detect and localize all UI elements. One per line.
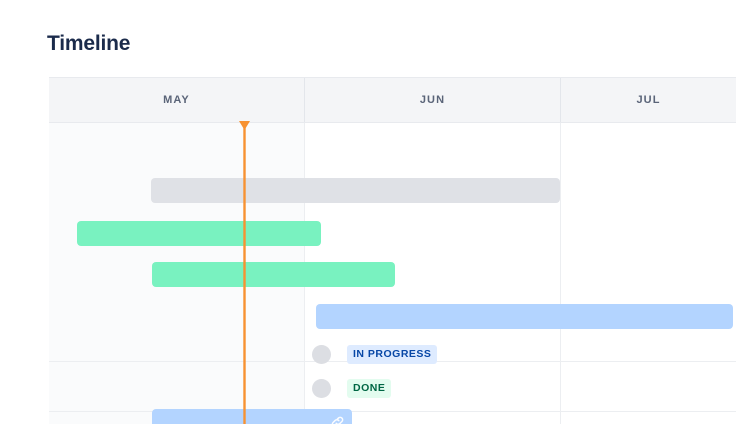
- timeline-bar-green-2[interactable]: [152, 262, 395, 287]
- timeline-bar-blue-2[interactable]: [152, 409, 352, 424]
- status-row-in-progress[interactable]: IN PROGRESS: [312, 345, 437, 364]
- status-row-done[interactable]: DONE: [312, 379, 391, 398]
- month-column-header-jul[interactable]: JUL: [560, 78, 736, 122]
- column-divider-jun-jul: [560, 123, 561, 424]
- column-band-jul: [560, 123, 736, 424]
- link-icon[interactable]: [330, 414, 345, 424]
- timeline-bar-green-1[interactable]: [77, 221, 321, 246]
- page-title: Timeline: [47, 30, 130, 58]
- month-column-header-jun[interactable]: JUN: [304, 78, 560, 122]
- month-header-row: MAY JUN JUL: [49, 77, 736, 123]
- status-badge-done[interactable]: DONE: [347, 379, 391, 398]
- timeline-bar-grey[interactable]: [151, 178, 560, 203]
- timeline-chart: MAY JUN JUL: [49, 77, 736, 424]
- avatar-circle-icon: [312, 379, 331, 398]
- timeline-grid-body: IN PROGRESS DONE: [49, 123, 736, 424]
- timeline-bar-blue-1[interactable]: [316, 304, 733, 329]
- avatar-circle-icon: [312, 345, 331, 364]
- status-badge-in-progress[interactable]: IN PROGRESS: [347, 345, 437, 364]
- month-column-header-may[interactable]: MAY: [49, 78, 304, 122]
